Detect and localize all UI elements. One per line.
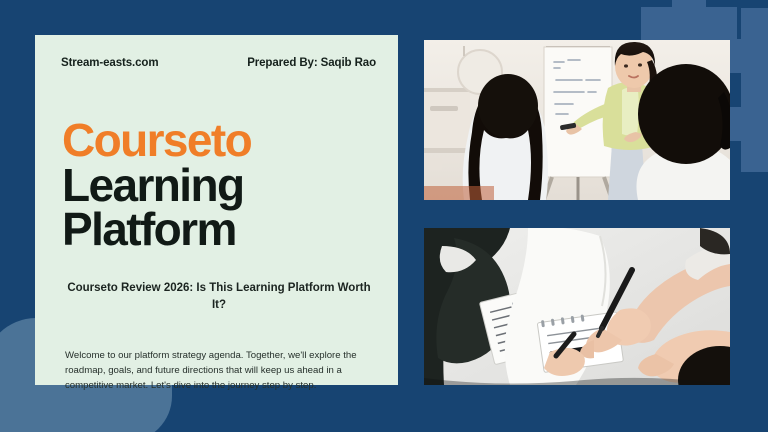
presentation-slide: Stream-easts.com Prepared By: Saqib Rao … (0, 0, 768, 432)
site-name-label: Stream-easts.com (61, 57, 158, 69)
group-notetaking-photo (424, 228, 730, 385)
headline-line-2: Learning (62, 163, 380, 207)
body-paragraph: Welcome to our platform strategy agenda.… (65, 348, 371, 393)
classroom-presentation-photo (424, 40, 730, 200)
subtitle-text: Courseto Review 2026: Is This Learning P… (62, 280, 376, 313)
page-title: Courseto Learning Platform (62, 118, 380, 250)
plus-icon (641, 7, 737, 41)
card-header: Stream-easts.com Prepared By: Saqib Rao (61, 57, 376, 69)
content-card: Stream-easts.com Prepared By: Saqib Rao … (35, 35, 398, 385)
headline-line-3: Platform (62, 207, 380, 251)
prepared-by-label: Prepared By: Saqib Rao (247, 57, 376, 69)
headline-line-brand: Courseto (62, 118, 380, 162)
